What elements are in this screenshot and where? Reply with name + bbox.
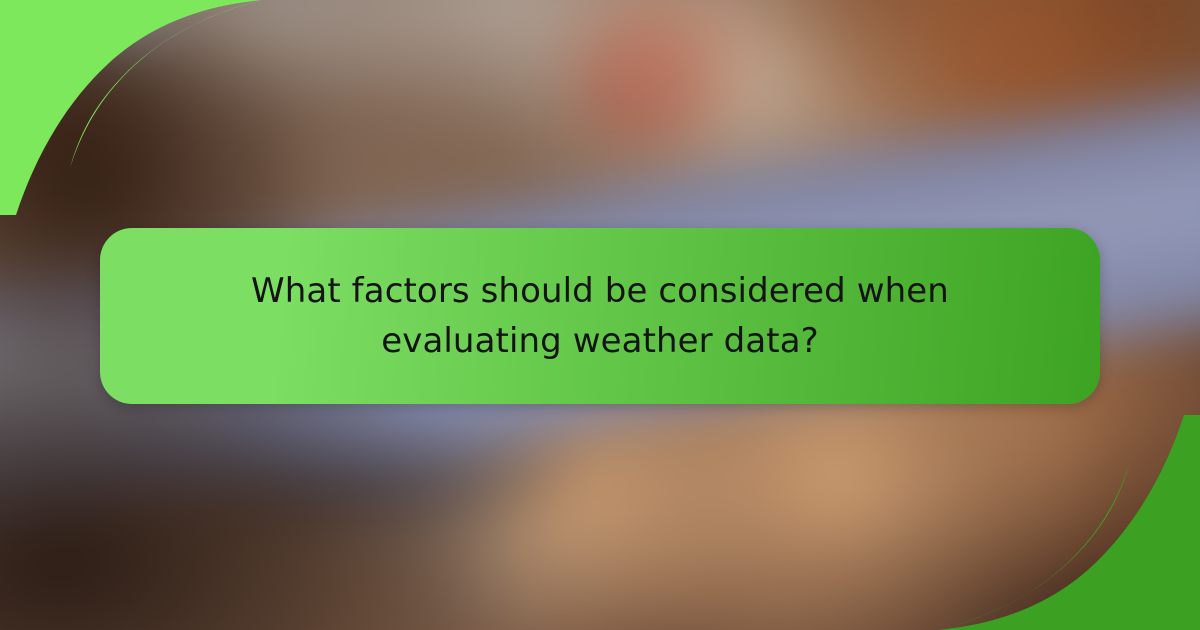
quote-card-graphic: What factors should be considered when e… xyxy=(0,0,1200,630)
question-card: What factors should be considered when e… xyxy=(100,228,1100,404)
question-text: What factors should be considered when e… xyxy=(170,266,1030,367)
